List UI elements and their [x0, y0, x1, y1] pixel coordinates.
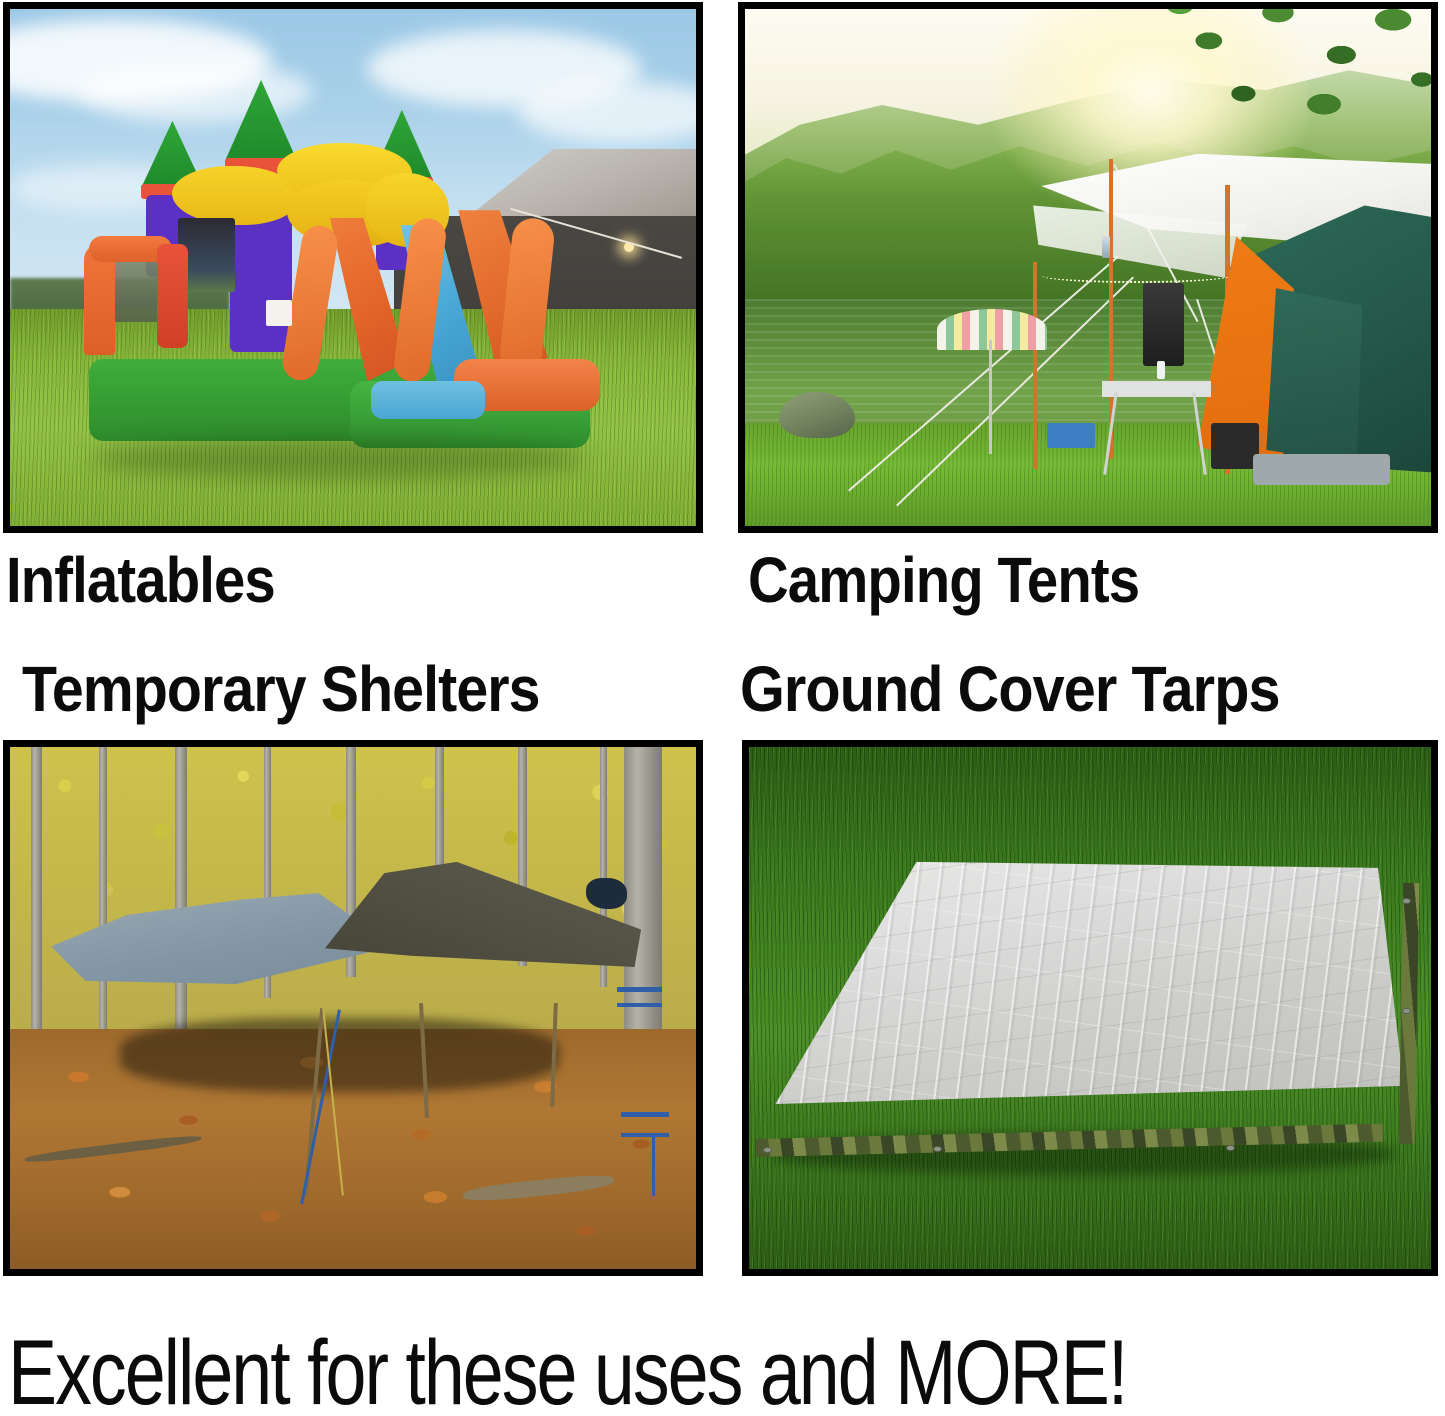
- hanging-cloth: [586, 878, 627, 909]
- inflatable-bounce-house-photo: [10, 9, 696, 526]
- safety-tag: [266, 300, 292, 326]
- tower-spire-center: [225, 80, 298, 162]
- photo-frame-camping: [738, 2, 1438, 533]
- tree-tie-rope: [621, 1112, 669, 1117]
- category-label-temporary-shelters: Temporary Shelters: [22, 657, 540, 721]
- photo-frame-ground-cover-tarps: [742, 740, 1438, 1276]
- landing-pool: [371, 381, 486, 418]
- tree-tie-rope: [621, 1133, 669, 1137]
- water-bottle: [1157, 361, 1165, 379]
- camp-chair: [1047, 423, 1095, 449]
- grommet: [933, 1146, 942, 1152]
- hanging-rope-tail: [652, 1133, 655, 1196]
- grommet: [763, 1147, 772, 1153]
- tent-door-panel: [1266, 288, 1362, 464]
- silver-ground-tarp-photo: [749, 747, 1431, 1269]
- category-label-camping-tents: Camping Tents: [748, 548, 1139, 612]
- tagline-text: Excellent for these uses and MORE!: [8, 1327, 1152, 1416]
- tree-trunk: [175, 747, 187, 1039]
- photo-frame-temporary-shelters: [3, 740, 703, 1276]
- overhanging-tree-branch: [1157, 9, 1431, 164]
- tree-tie-rope: [617, 1003, 662, 1007]
- bounce-house: [79, 76, 600, 448]
- tree-tie-rope: [617, 987, 662, 992]
- category-label-ground-cover-tarps: Ground Cover Tarps: [740, 657, 1280, 721]
- string-lights: [1040, 268, 1232, 284]
- beach-umbrella: [937, 309, 1047, 350]
- photo-frame-inflatables: [3, 2, 703, 533]
- tarp-pole: [1033, 262, 1037, 469]
- hanging-lantern: [1102, 236, 1110, 258]
- tarp-shelter-woods-photo: [10, 747, 696, 1269]
- category-label-inflatables: Inflatables: [6, 548, 275, 612]
- umbrella-pole: [989, 340, 992, 454]
- tarp-shelter-shadow-interior: [120, 1018, 559, 1091]
- lakeside-camping-tent-photo: [745, 9, 1431, 526]
- grommet: [1226, 1145, 1235, 1151]
- camera-tripod-gear: [1143, 283, 1184, 366]
- grommet: [1402, 1008, 1411, 1014]
- red-accent-left: [157, 244, 188, 348]
- ground-mat: [1253, 454, 1390, 485]
- tree-trunk: [99, 747, 107, 1071]
- collage-page: Inflatables Camping Tents Temporary Shel…: [0, 0, 1445, 1416]
